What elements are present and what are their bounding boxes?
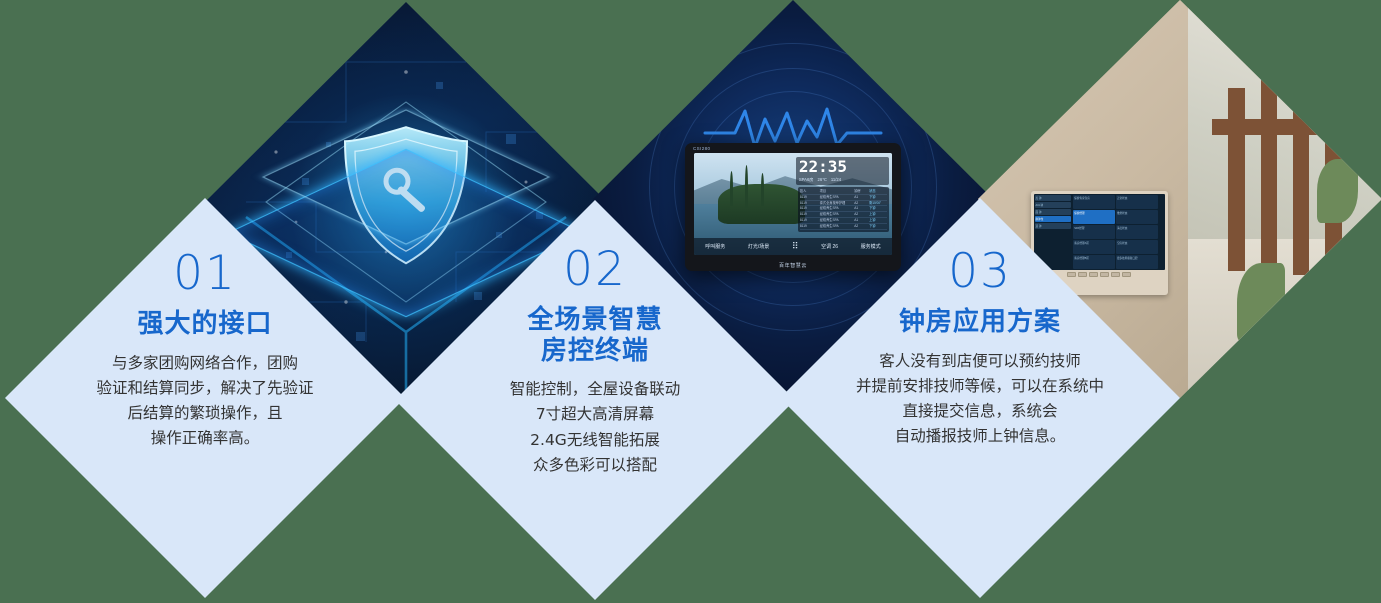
table-row[interactable]: 8119 经络养生SPA A2 下钟 (800, 224, 887, 230)
tablet-room: SPA6房 (799, 177, 814, 183)
title-line: 房控终端 (395, 336, 795, 367)
desc-line: 众多色彩可以搭配 (395, 453, 795, 478)
cell-item: 泰式全身按摩护理 (820, 201, 852, 206)
desc-line: 直接提交信息，系统会 (780, 399, 1180, 424)
side-item[interactable]: 选 钟 (1035, 223, 1072, 229)
panel-3-description: 客人没有到店便可以预约技师 并提前安排技师等候，可以在系统中 直接提交信息，系统… (780, 349, 1180, 449)
bar-button-call-service[interactable]: 呼叫服务 (705, 243, 725, 250)
col-status: 状态 (869, 189, 887, 194)
tablet-brand-label: CSI280 (693, 146, 710, 151)
menu-cell[interactable]: 更多技师康复口腔 (1116, 255, 1158, 269)
tablet-logo-label: 百年智慧云 (779, 262, 807, 269)
menu-cell-selected[interactable]: 保健经理 (1073, 210, 1115, 224)
menu-cell[interactable]: 空房状态 (1116, 240, 1158, 254)
col-tech: 技人 (800, 189, 818, 194)
photo-wood-rail (1212, 119, 1381, 135)
photo-wood-partition-2 (1261, 80, 1277, 271)
hard-button[interactable] (1122, 272, 1131, 277)
hard-button[interactable] (1100, 272, 1109, 277)
side-item[interactable]: 面 钟 (1035, 209, 1072, 215)
cell-tech: 8119 (800, 195, 818, 200)
desc-line: 并提前安排技师等候，可以在系统中 (780, 374, 1180, 399)
promo-banner: CSI280 22:35 SPA6房 26℃ 11/24 (0, 0, 1381, 603)
desc-line: 验证和结算同步，解决了先验证 (5, 376, 405, 401)
cell-room: A2 (854, 212, 867, 217)
desc-line: 操作正确率高。 (5, 426, 405, 451)
cell-tech: 8119 (800, 218, 818, 223)
cell-status: 上钟 (869, 218, 887, 223)
tablet-clock-widget: 22:35 SPA6房 26℃ 11/24 (796, 157, 889, 185)
cell-room: A1 (854, 218, 867, 223)
cell-status: 下钟 (869, 224, 887, 229)
tablet-screen[interactable]: 22:35 SPA6房 26℃ 11/24 技人 项目 钟房 状态 (694, 153, 892, 255)
side-item-selected[interactable]: 换钟位 (1035, 216, 1072, 222)
cell-room: A2 (854, 224, 867, 229)
tablet-bottom-bar[interactable]: 呼叫服务 灯光/场景 ⠿ 空调 26 服务模式 (694, 238, 892, 255)
cell-room: A1 (854, 206, 867, 211)
cell-item: 经络养生SPA (820, 218, 852, 223)
wall-controller-main-area[interactable]: 保健专家包房 正常状态 保健经理 维修状态 SPA经理 清扫状态 客房经理A区 … (1072, 194, 1165, 270)
bar-button-service-mode[interactable]: 服务模式 (861, 243, 881, 250)
desc-line: 2.4G无线智能拓展 (395, 428, 795, 453)
photo-floor (1188, 239, 1381, 398)
menu-cell[interactable]: 清扫状态 (1116, 225, 1158, 239)
desc-line: 智能控制，全屋设备联动 (395, 377, 795, 402)
menu-cell[interactable]: 正常状态 (1116, 195, 1158, 209)
apps-grid-icon[interactable]: ⠿ (792, 241, 799, 252)
cell-room: A1 (854, 195, 867, 200)
hard-button[interactable] (1111, 272, 1120, 277)
side-item[interactable]: 点 钟 (1035, 195, 1072, 201)
side-item[interactable]: ACL钟 (1035, 202, 1072, 208)
tablet-clock-meta: SPA6房 26℃ 11/24 (799, 177, 886, 183)
cell-status: 下钟 (869, 195, 887, 200)
cell-status: 上钟 (869, 212, 887, 217)
cell-room: A2 (854, 201, 867, 206)
photo-plant-2 (1277, 287, 1334, 375)
desc-line: 7寸超大高清屏幕 (395, 402, 795, 427)
wall-controller-screen[interactable]: 点 钟 ACL钟 面 钟 换钟位 选 钟 保健专家包房 正常状态 保健经理 维修… (1034, 194, 1165, 270)
cell-status: 剩15'00" (869, 201, 887, 206)
col-room: 钟房 (854, 189, 867, 194)
tablet-time: 22:35 (799, 159, 886, 175)
cell-item: 经络养生SPA (820, 212, 852, 217)
menu-cell[interactable]: 维修状态 (1116, 210, 1158, 224)
desc-line: 客人没有到店便可以预约技师 (780, 349, 1180, 374)
menu-cell[interactable]: 客房经理A区 (1073, 240, 1115, 254)
menu-cell[interactable]: 客房经理B区 (1073, 255, 1115, 269)
cell-item: 经络养生SPA (820, 224, 852, 229)
bar-button-aircon[interactable]: 空调 26 (821, 243, 838, 250)
hard-button[interactable] (1078, 272, 1087, 277)
hard-button[interactable] (1089, 272, 1098, 277)
photo-plant-3 (1317, 159, 1357, 223)
col-item: 项目 (820, 189, 852, 194)
desc-line: 自动播报技师上钟信息。 (780, 424, 1180, 449)
cell-tech: 8119 (800, 206, 818, 211)
tablet-service-list[interactable]: 技人 项目 钟房 状态 8119 经络养生SPA A1 下钟 8119 泰式全身… (798, 187, 889, 232)
panel-1-description: 与多家团购网络合作，团购 验证和结算同步，解决了先验证 后结算的繁琐操作，且 操… (5, 351, 405, 451)
smart-room-tablet[interactable]: CSI280 22:35 SPA6房 26℃ 11/24 (685, 143, 901, 271)
tablet-date: 11/24 (831, 177, 841, 183)
wallpaper-tree-1 (730, 171, 733, 206)
cell-tech: 8119 (800, 201, 818, 206)
photo-wood-partition-1 (1228, 88, 1244, 271)
desc-line: 与多家团购网络合作，团购 (5, 351, 405, 376)
panel-2-description: 智能控制，全屋设备联动 7寸超大高清屏幕 2.4G无线智能拓展 众多色彩可以搭配 (395, 377, 795, 477)
bar-button-lighting[interactable]: 灯光/场景 (748, 243, 769, 250)
cell-tech: 8119 (800, 224, 818, 229)
cell-status: 下钟 (869, 206, 887, 211)
cell-item: 经络养生SPA (820, 206, 852, 211)
desc-line: 后结算的繁琐操作，且 (5, 401, 405, 426)
menu-cell[interactable]: 保健专家包房 (1073, 195, 1115, 209)
hard-button[interactable] (1067, 272, 1076, 277)
menu-cell[interactable]: SPA经理 (1073, 225, 1115, 239)
photo-plant-1 (1237, 263, 1285, 343)
cell-item: 经络养生SPA (820, 195, 852, 200)
photo-wood-partition-3 (1293, 76, 1309, 275)
cell-tech: 8119 (800, 212, 818, 217)
tablet-temp: 26℃ (817, 177, 826, 183)
